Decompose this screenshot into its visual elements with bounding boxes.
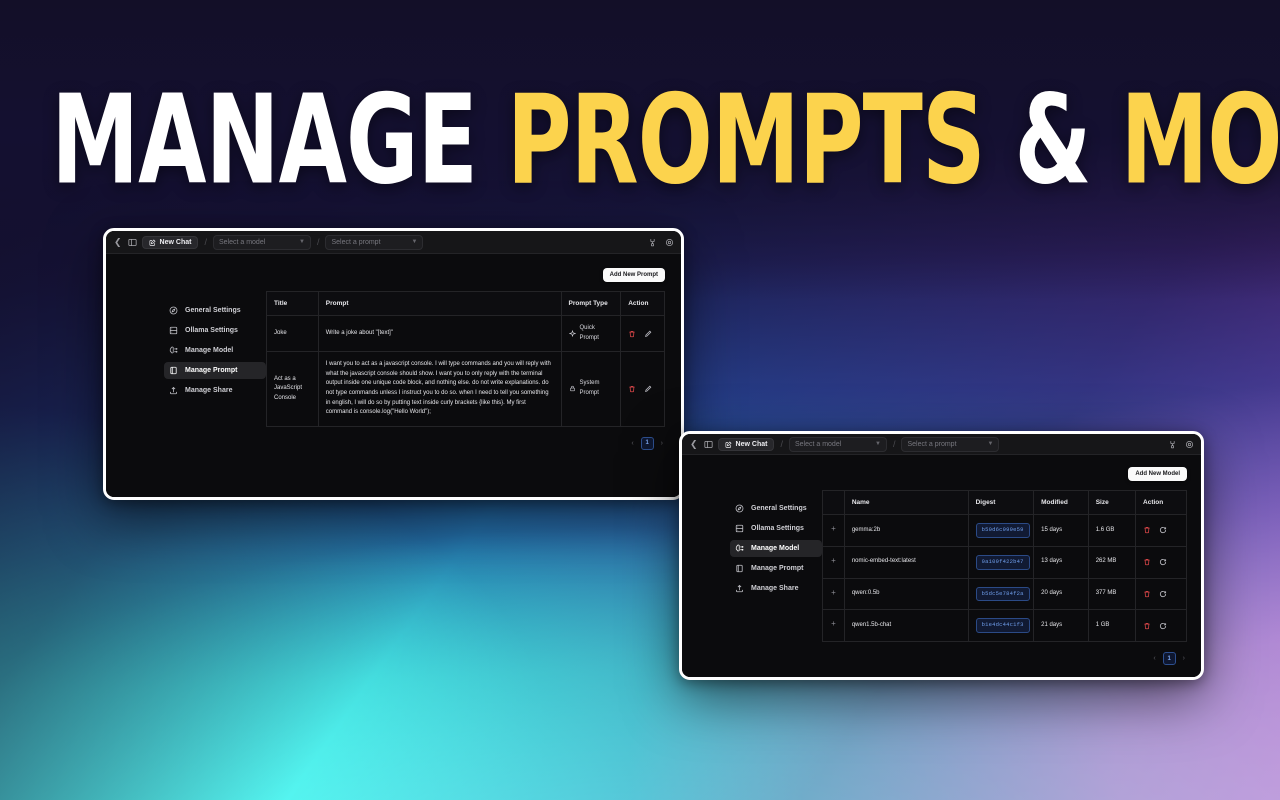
prompt-select[interactable]: Select a prompt ▼ [901,437,999,452]
new-chat-label: New Chat [736,441,768,448]
server-icon [735,524,744,533]
model-select-value: Select a model [219,239,265,246]
table-header-row: Title Prompt Prompt Type Action [267,292,665,316]
model-main-panel: Add New Model Name Digest Modified Size … [822,455,1201,678]
cell-modified: 13 days [1034,546,1089,578]
cell-size: 1.6 GB [1088,515,1135,547]
column-header-size: Size [1088,491,1135,515]
sidebar-label: Manage Model [185,347,233,354]
model-select[interactable]: Select a model ▼ [213,235,311,250]
plus-icon: + [831,619,836,628]
github-icon[interactable] [648,238,657,247]
sidebar-label: Manage Share [751,585,798,592]
prompt-type-label: System Prompt [580,379,614,398]
pagination-prev-button[interactable]: ‹ [631,440,633,447]
cell-size: 1 GB [1088,610,1135,642]
title-part-prompts: PROMPTS [507,69,985,212]
title-part-models: MODELS [1120,69,1280,212]
cell-expand[interactable]: + [823,610,845,642]
column-header-name: Name [844,491,968,515]
model-select-value: Select a model [795,441,841,448]
column-header-prompt-type: Prompt Type [561,292,621,316]
refresh-icon[interactable] [1159,526,1167,534]
refresh-icon[interactable] [1159,590,1167,598]
cell-modified: 20 days [1034,578,1089,610]
new-chat-button[interactable]: New Chat [718,438,775,451]
column-header-action: Action [1136,491,1187,515]
cell-modified: 15 days [1034,515,1089,547]
plus-icon: + [831,588,836,597]
toolbar-separator-2: / [316,237,321,247]
sidebar-item-manage-prompt[interactable]: Manage Prompt [164,362,266,379]
window-toolbar: ❮ New Chat / Select a model ▼ / Select a… [106,231,681,254]
sidebar-item-manage-prompt[interactable]: Manage Prompt [730,560,822,577]
refresh-icon[interactable] [1159,622,1167,630]
trash-icon[interactable] [1143,526,1151,534]
cell-title: Act as a JavaScript Console [267,352,319,427]
share-upload-icon [735,584,744,593]
cell-prompt-type: Quick Prompt [561,316,621,352]
trash-icon[interactable] [628,385,636,393]
model-pagination: ‹ 1 › [822,652,1187,665]
share-upload-icon [169,386,178,395]
title-part-manage: MANAGE [51,69,507,212]
toolbar-actions [1168,440,1194,449]
column-header-title: Title [267,292,319,316]
cell-digest: b1e4dc44c1f3 [968,610,1034,642]
model-toolbar: Add New Model [822,467,1187,481]
digest-badge[interactable]: 0a109f422b47 [976,555,1030,570]
model-table: Name Digest Modified Size Action + gemma… [822,490,1187,642]
brain-circuit-icon [169,346,178,355]
prompt-main-panel: Add New Prompt Title Prompt Prompt Type … [266,254,681,498]
cell-name: qwen:0.5b [844,578,968,610]
table-row: Act as a JavaScript Console I want you t… [267,352,665,427]
sparkle-icon [569,330,576,337]
pagination-next-button[interactable]: › [661,440,663,447]
model-app-window: ❮ New Chat / Select a model ▼ / Select a… [679,431,1204,680]
toolbar-separator-1: / [203,237,208,247]
book-icon [169,366,178,375]
edit-square-icon [149,239,156,246]
table-row: + gemma:2b b50d6c999e59 15 days 1.6 GB [823,515,1187,547]
window-body: General Settings Ollama Settings Manage … [682,455,1201,678]
compass-icon [169,306,178,315]
trash-icon[interactable] [628,330,636,338]
prompt-app-window: ❮ New Chat / Select a model ▼ / Select a… [103,228,684,500]
refresh-icon[interactable] [1159,558,1167,566]
cell-prompt-type: System Prompt [561,352,621,427]
table-header-row: Name Digest Modified Size Action [823,491,1187,515]
column-header-action: Action [621,292,665,316]
chevron-down-icon: ▼ [875,441,881,447]
model-select[interactable]: Select a model ▼ [789,437,887,452]
digest-badge[interactable]: b5dc5e784f2a [976,587,1030,602]
pencil-icon[interactable] [644,385,652,393]
column-header-digest: Digest [968,491,1034,515]
trash-icon[interactable] [1143,590,1151,598]
prompt-select-value: Select a prompt [907,441,956,448]
cell-action [1136,610,1187,642]
toolbar-actions [648,238,674,247]
cell-digest: b5dc5e784f2a [968,578,1034,610]
gear-icon[interactable] [1185,440,1194,449]
cell-modified: 21 days [1034,610,1089,642]
window-body: General Settings Ollama Settings Manage … [106,254,681,498]
cell-size: 262 MB [1088,546,1135,578]
chevron-down-icon: ▼ [412,239,418,245]
cell-action [1136,546,1187,578]
cell-prompt: I want you to act as a javascript consol… [318,352,561,427]
sidebar-label: Ollama Settings [751,525,804,532]
pencil-icon[interactable] [644,330,652,338]
column-header-modified: Modified [1034,491,1089,515]
table-row: + qwen1.5b-chat b1e4dc44c1f3 21 days 1 G… [823,610,1187,642]
sidebar-item-ollama-settings[interactable]: Ollama Settings [164,322,266,339]
cell-expand[interactable]: + [823,515,845,547]
cell-action [1136,515,1187,547]
prompt-select[interactable]: Select a prompt ▼ [325,235,423,250]
sidebar-label: Manage Share [185,387,232,394]
sidebar-item-ollama-settings[interactable]: Ollama Settings [730,520,822,537]
settings-sidebar: General Settings Ollama Settings Manage … [106,254,266,498]
sidebar-item-manage-model[interactable]: Manage Model [730,540,822,557]
toolbar-separator-2: / [892,439,897,449]
book-icon [735,564,744,573]
cell-name: gemma:2b [844,515,968,547]
edit-square-icon [725,441,732,448]
sidebar-label: General Settings [185,307,241,314]
lock-icon [569,385,576,392]
sidebar-panel-icon[interactable] [704,440,713,449]
digest-badge[interactable]: b50d6c999e59 [976,523,1030,538]
settings-sidebar: General Settings Ollama Settings Manage … [682,455,822,678]
cell-name: qwen1.5b-chat [844,610,968,642]
cell-title: Joke [267,316,319,352]
prompt-pagination: ‹ 1 › [266,437,665,450]
cell-expand[interactable]: + [823,578,845,610]
pagination-page-1[interactable]: 1 [1163,652,1176,665]
page-title: MANAGE PROMPTS & MODELS [51,79,1229,202]
new-chat-button[interactable]: New Chat [142,236,199,249]
sidebar-item-manage-share[interactable]: Manage Share [730,580,822,597]
trash-icon[interactable] [1143,622,1151,630]
table-row: + nomic-embed-text:latest 0a109f422b47 1… [823,546,1187,578]
sidebar-item-manage-model[interactable]: Manage Model [164,342,266,359]
cell-action [621,316,665,352]
sidebar-item-general-settings[interactable]: General Settings [730,500,822,517]
server-icon [169,326,178,335]
sidebar-label: Manage Model [751,545,799,552]
compass-icon [735,504,744,513]
title-part-ampersand: & [985,69,1121,212]
sidebar-label: Manage Prompt [185,367,238,374]
table-row: Joke Write a joke about "[text]" Quick P… [267,316,665,352]
sidebar-label: Manage Prompt [751,565,804,572]
prompt-toolbar: Add New Prompt [266,268,665,282]
cell-digest: 0a109f422b47 [968,546,1034,578]
add-new-prompt-button[interactable]: Add New Prompt [603,268,665,282]
plus-icon: + [831,524,836,533]
prompt-select-value: Select a prompt [331,239,380,246]
pagination-prev-button[interactable]: ‹ [1153,655,1155,662]
cell-prompt: Write a joke about "[text]" [318,316,561,352]
new-chat-label: New Chat [160,239,192,246]
sidebar-item-manage-share[interactable]: Manage Share [164,382,266,399]
chevron-left-icon[interactable]: ❮ [113,238,123,247]
pagination-page-1[interactable]: 1 [641,437,654,450]
cell-action [621,352,665,427]
add-new-model-button[interactable]: Add New Model [1128,467,1187,481]
table-row: + qwen:0.5b b5dc5e784f2a 20 days 377 MB [823,578,1187,610]
digest-badge[interactable]: b1e4dc44c1f3 [976,618,1030,633]
sidebar-label: General Settings [751,505,807,512]
brain-circuit-icon [735,544,744,553]
gear-icon[interactable] [665,238,674,247]
chevron-down-icon: ▼ [299,239,305,245]
sidebar-label: Ollama Settings [185,327,238,334]
cell-digest: b50d6c999e59 [968,515,1034,547]
column-header-prompt: Prompt [318,292,561,316]
cell-size: 377 MB [1088,578,1135,610]
sidebar-item-general-settings[interactable]: General Settings [164,302,266,319]
github-icon[interactable] [1168,440,1177,449]
plus-icon: + [831,556,836,565]
prompt-type-label: Quick Prompt [580,324,614,343]
cell-action [1136,578,1187,610]
column-header-expand [823,491,845,515]
prompt-table: Title Prompt Prompt Type Action Joke Wri… [266,291,665,427]
pagination-next-button[interactable]: › [1183,655,1185,662]
trash-icon[interactable] [1143,558,1151,566]
chevron-left-icon[interactable]: ❮ [689,440,699,449]
sidebar-panel-icon[interactable] [128,238,137,247]
cell-name: nomic-embed-text:latest [844,546,968,578]
chevron-down-icon: ▼ [988,441,994,447]
toolbar-separator-1: / [779,439,784,449]
cell-expand[interactable]: + [823,546,845,578]
window-toolbar: ❮ New Chat / Select a model ▼ / Select a… [682,434,1201,455]
